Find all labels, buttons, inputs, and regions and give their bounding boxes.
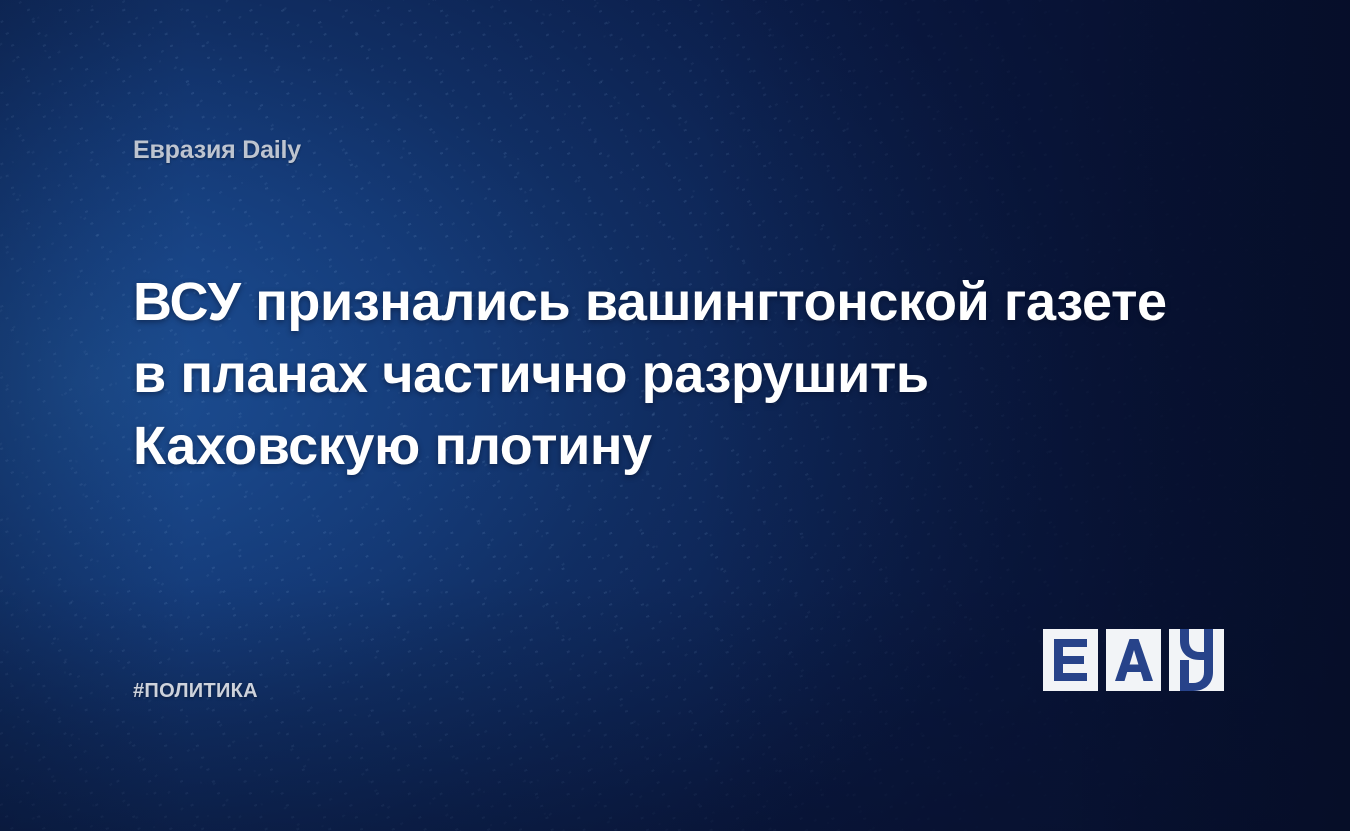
headline-line-3: Каховскую плотину [133,410,1213,482]
logo-tile-e [1043,629,1098,691]
logo-letter-e-glyph [1054,639,1088,681]
headline: ВСУ признались вашингтонской газете в пл… [133,266,1213,482]
logo-letter-d-half-top [1169,629,1224,660]
headline-line-1: ВСУ признались вашингтонской газете [133,266,1213,338]
logo-tile-d [1169,629,1224,691]
logo-tile-a [1106,629,1161,691]
card-content: Евразия Daily ВСУ признались вашингтонск… [0,0,1350,831]
logo-letter-d-glyph-top [1169,629,1224,660]
topic-hashtag[interactable]: #ПОЛИТИКА [133,680,258,703]
headline-line-2: в планах частично разрушить [133,338,1213,410]
news-share-card: Евразия Daily ВСУ признались вашингтонск… [0,0,1350,831]
logo-letter-d-half-bottom [1169,660,1224,691]
brand-name: Евразия Daily [133,136,301,165]
eadaily-logo [1043,629,1224,691]
logo-letter-d-glyph-bottom [1169,660,1224,691]
logo-letter-a-glyph [1115,639,1153,681]
